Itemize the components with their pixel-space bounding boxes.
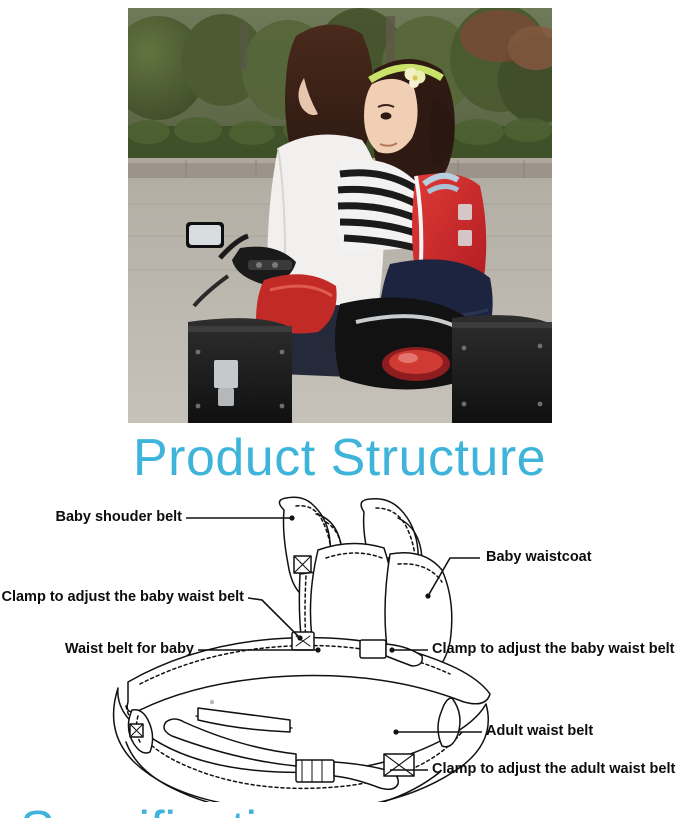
label-clamp-baby-waist-belt-left: Clamp to adjust the baby waist belt	[0, 589, 244, 606]
label-waist-belt-for-baby: Waist belt for baby	[0, 641, 194, 658]
specification-heading: Specification	[20, 800, 315, 818]
label-clamp-adult-waist-belt: Clamp to adjust the adult waist belt	[432, 761, 675, 778]
label-adult-waist-belt: Adult waist belt	[486, 723, 593, 740]
label-baby-waistcoat: Baby waistcoat	[486, 549, 592, 566]
label-clamp-baby-waist-belt-right: Clamp to adjust the baby waist belt	[432, 641, 675, 658]
product-photo	[128, 8, 552, 423]
specification-heading-clipped: Specification	[0, 800, 679, 818]
product-photo-image	[128, 8, 552, 423]
page-title: Product Structure	[0, 428, 679, 488]
product-structure-diagram: Baby shouder belt Clamp to adjust the ba…	[0, 492, 679, 802]
label-baby-shoulder-belt: Baby shouder belt	[0, 509, 182, 526]
